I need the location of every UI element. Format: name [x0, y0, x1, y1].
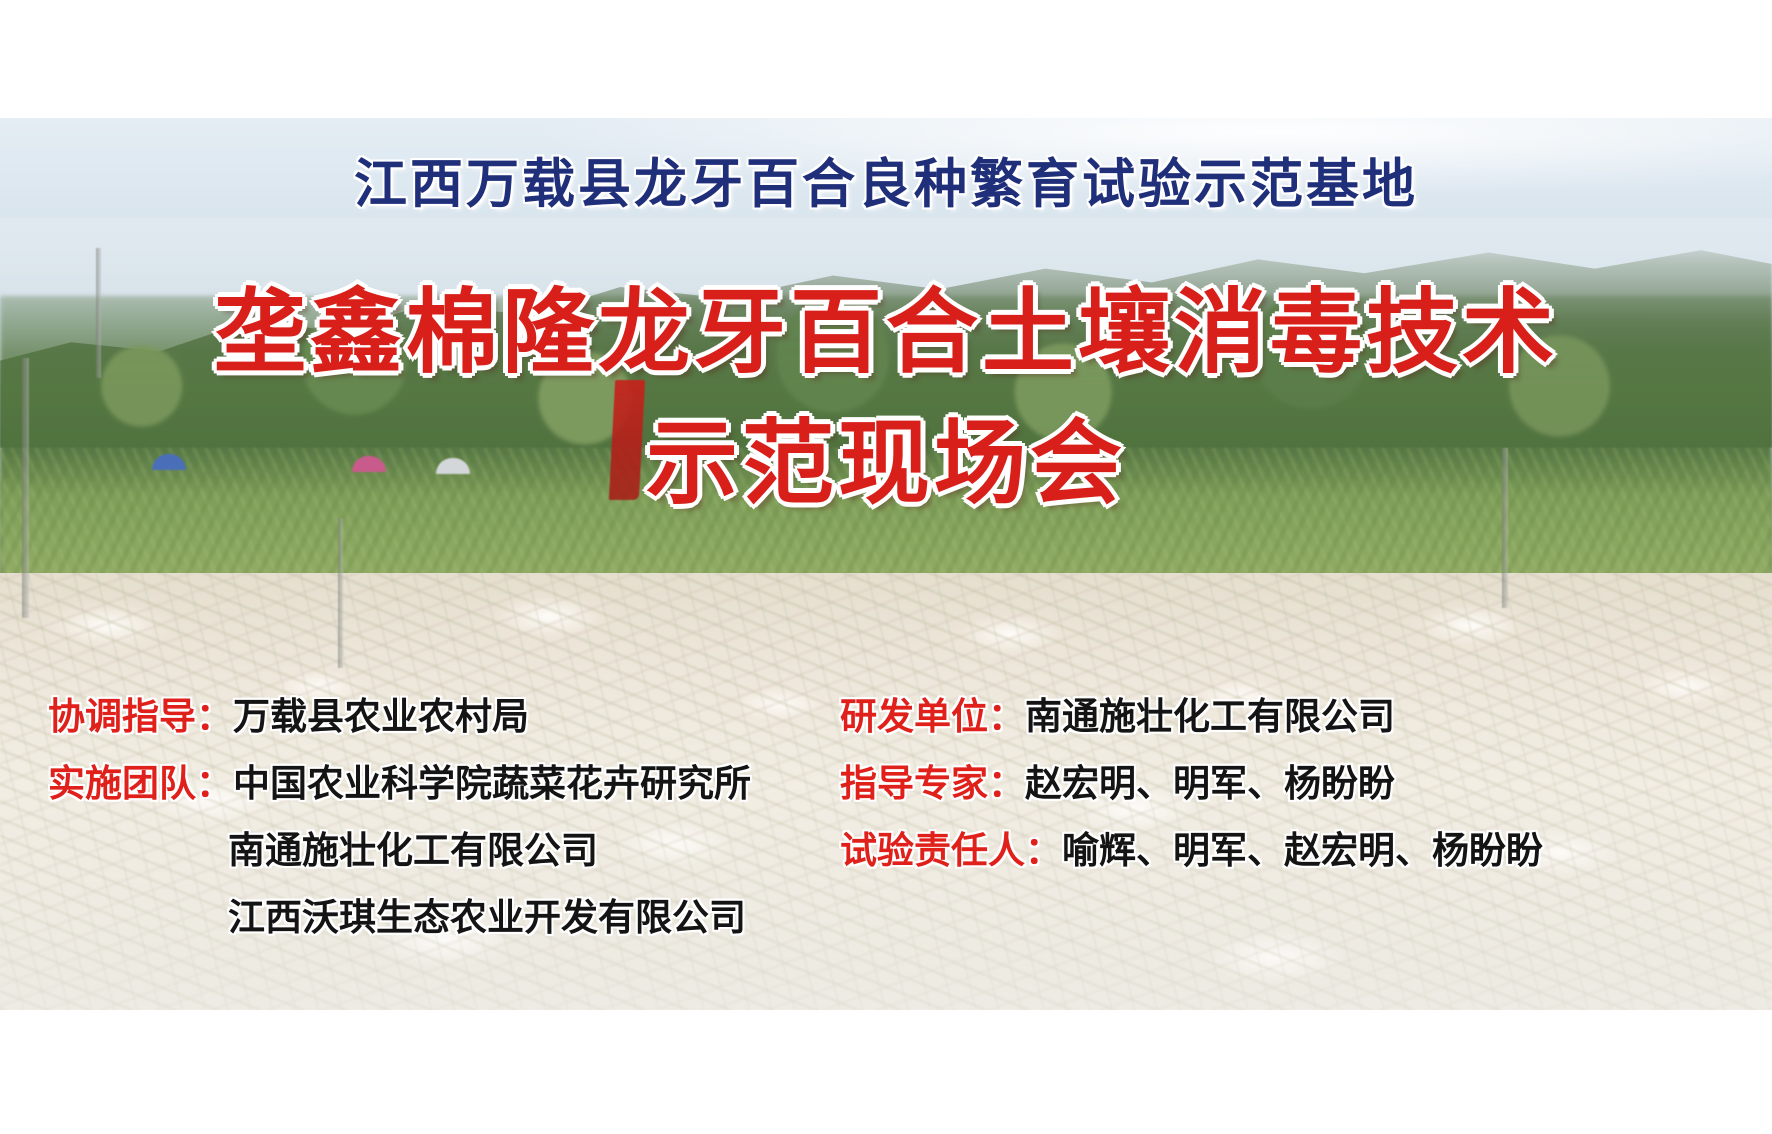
credit-label: 实施团队：: [48, 763, 233, 804]
credit-value: 江西沃琪生态农业开发有限公司: [228, 897, 746, 938]
credit-value: 南通施壮化工有限公司: [228, 830, 598, 871]
credit-row: 南通施壮化工有限公司: [228, 832, 598, 869]
credit-value: 万载县农业农村局: [233, 696, 529, 737]
credit-row: 江西沃琪生态农业开发有限公司: [228, 899, 746, 936]
credit-row: 实施团队：中国农业科学院蔬菜花卉研究所: [48, 765, 751, 802]
credit-value: 赵宏明、明军、杨盼盼: [1025, 763, 1395, 804]
banner-photo-canvas: 江西万载县龙牙百合良种繁育试验示范基地 垄鑫棉隆龙牙百合土壤消毒技术 示范现场会…: [0, 118, 1772, 1010]
credit-label: 研发单位：: [840, 696, 1025, 737]
credit-value: 南通施壮化工有限公司: [1025, 696, 1395, 737]
credit-value: 喻辉、明军、赵宏明、杨盼盼: [1062, 830, 1543, 871]
credit-row: 协调指导：万载县农业农村局: [48, 698, 529, 735]
credit-row: 研发单位：南通施壮化工有限公司: [840, 698, 1395, 735]
credit-row: 试验责任人：喻辉、明军、赵宏明、杨盼盼: [840, 832, 1543, 869]
credit-value: 中国农业科学院蔬菜花卉研究所: [233, 763, 751, 804]
credit-label: 协调指导：: [48, 696, 233, 737]
credit-row: 指导专家：赵宏明、明军、杨盼盼: [840, 765, 1395, 802]
credits-block: 协调指导：万载县农业农村局 实施团队：中国农业科学院蔬菜花卉研究所 南通施壮化工…: [0, 118, 1772, 1010]
credit-label: 试验责任人：: [840, 830, 1062, 871]
credit-label: 指导专家：: [840, 763, 1025, 804]
banner-root: 江西万载县龙牙百合良种繁育试验示范基地 垄鑫棉隆龙牙百合土壤消毒技术 示范现场会…: [0, 0, 1772, 1134]
